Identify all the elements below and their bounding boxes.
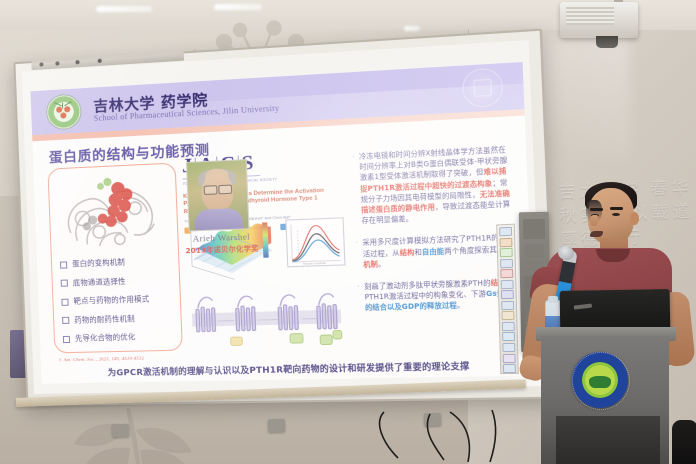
- toolbar-icon-undo[interactable]: [501, 301, 514, 310]
- toolbar-icon-pointer[interactable]: [499, 227, 512, 237]
- speaker-nose: [590, 215, 598, 226]
- gpcr-membrane-activation-scheme: [187, 282, 347, 354]
- checkbox-icon: [60, 261, 67, 268]
- slide-citation: J. Am. Chem. Soc., 2023, 145, 4519-4532: [59, 356, 145, 363]
- laptop-logo: [574, 303, 592, 309]
- paragraph-1-body: 冷冻电镜和时间分辨X射线晶体学方法虽然在时间分辨率上对B类G蛋白偶联受体-甲状旁…: [359, 144, 513, 226]
- tray-clip: [268, 419, 285, 433]
- toolbar-icon-save[interactable]: [503, 353, 516, 362]
- ceiling-light-1: [96, 6, 152, 12]
- slide-conclusion: 为GPCR激活机制的理解与认识以及PTH1R靶向药物的设计和研发提供了重要的理论…: [107, 360, 469, 379]
- portrait-glasses-right: [218, 185, 232, 195]
- checkbox-icon: [63, 335, 70, 342]
- toolbar-icon-shapes[interactable]: [500, 269, 513, 278]
- list-item: 药物的耐药性机制: [62, 312, 177, 325]
- toolbar-icon-text[interactable]: [501, 280, 514, 289]
- paragraph-2: · 采用多尺度计算模拟方法研究了PTH1R的激活过程，从结构和自由能两个角度探索…: [355, 232, 515, 270]
- paragraph-1: · 冷冻电镜和时间分辨X射线晶体学方法虽然在时间分辨率上对B类G蛋白偶联受体-甲…: [352, 144, 513, 226]
- left-topics-panel: 蛋白的变构机制 底物通道选择性 靶点与药物的作用模式 药物的耐药性机制: [47, 162, 183, 353]
- speaker-eyebrow-left: [590, 208, 603, 211]
- list-item: 先导化合物的优化: [63, 331, 178, 344]
- projected-slide: 吉林大学 药学院 School of Pharmaceutical Scienc…: [30, 62, 535, 384]
- projector: [560, 2, 638, 38]
- podium-base: [556, 416, 660, 464]
- list-item: 蛋白的变构机制: [60, 256, 175, 270]
- paragraph-2-body: 采用多尺度计算模拟方法研究了PTH1R的激活过程，从结构和自由能两个角度探索其激…: [362, 232, 515, 270]
- portrait-torso: [194, 208, 243, 232]
- control-panel-display: [523, 219, 545, 239]
- right-text-column: · 冷冻电镜和时间分辨X射线晶体学方法虽然在时间分辨率上对B类G蛋白偶联受体-甲…: [352, 144, 517, 325]
- topics-list: 蛋白的变构机制 底物通道选择性 靶点与药物的作用模式 药物的耐药性机制: [60, 256, 178, 353]
- bullet-dot-icon: ·: [352, 152, 358, 227]
- ceiling-light-3: [404, 26, 420, 31]
- checkbox-icon: [62, 317, 69, 324]
- checkbox-icon: [61, 298, 68, 305]
- protein-structure-ribbon-with-ligand: [57, 170, 170, 254]
- bullet-dot-icon: ·: [357, 282, 361, 314]
- svg-text:Reaction coordinate: Reaction coordinate: [303, 262, 327, 266]
- tray-clip: [112, 424, 129, 438]
- toolbar-icon-select[interactable]: [501, 290, 514, 299]
- projector-vent: [566, 7, 614, 25]
- activation-energy-curve-plot: Reaction coordinate: [285, 217, 345, 267]
- speaker-mouth: [590, 231, 603, 237]
- toolbar-icon-redo[interactable]: [501, 311, 514, 320]
- speaker-eye-right: [612, 213, 620, 216]
- paragraph-3: · 刻画了激动剂多肽甲状旁腺激素PTH的结合，PTH1R激活过程中的构象变化、下…: [357, 277, 517, 314]
- ceiling-light-2: [214, 4, 262, 10]
- list-item: 底物通道选择性: [61, 275, 176, 289]
- toolbar-icon-pen[interactable]: [499, 237, 512, 247]
- floor-cables: [372, 408, 532, 464]
- projector-lens: [596, 36, 618, 48]
- paragraph-3-body: 刻画了激动剂多肽甲状旁腺激素PTH的结合，PTH1R激活过程中的构象变化、下游G…: [364, 277, 517, 314]
- whiteboard-surface: 吉林大学 药学院 School of Pharmaceutical Scienc…: [22, 40, 543, 394]
- emblem-mountain-motif: [589, 376, 611, 388]
- lecture-hall-photo: 吉大之学 春华秋实 文以载道 厚德笃行 吉林大学 药学院: [0, 0, 696, 464]
- list-item: 靶点与药物的作用模式: [61, 293, 176, 306]
- toolbar-icon-eraser[interactable]: [500, 258, 513, 267]
- speaker-ear: [630, 212, 639, 225]
- bullet-dot-icon: ·: [355, 238, 359, 270]
- chair: [672, 420, 696, 464]
- water-bottle-cap: [548, 296, 558, 303]
- portrait-glasses-left: [204, 185, 218, 195]
- speaker-eyebrow-right: [610, 207, 623, 210]
- checkbox-icon: [61, 280, 68, 287]
- toolbar-icon-camera[interactable]: [502, 343, 515, 352]
- toolbar-icon-page-next[interactable]: [502, 332, 515, 341]
- whiteboard-screen[interactable]: 吉林大学 药学院 School of Pharmaceutical Scienc…: [13, 29, 557, 407]
- toolbar-icon-highlighter[interactable]: [500, 248, 513, 257]
- toolbar-icon-settings[interactable]: [503, 364, 516, 373]
- jilin-university-emblem: [572, 352, 628, 408]
- control-panel-power-button[interactable]: [524, 244, 544, 258]
- arieh-warshel-photo: [186, 159, 250, 232]
- toolbar-icon-page-prev[interactable]: [502, 322, 515, 331]
